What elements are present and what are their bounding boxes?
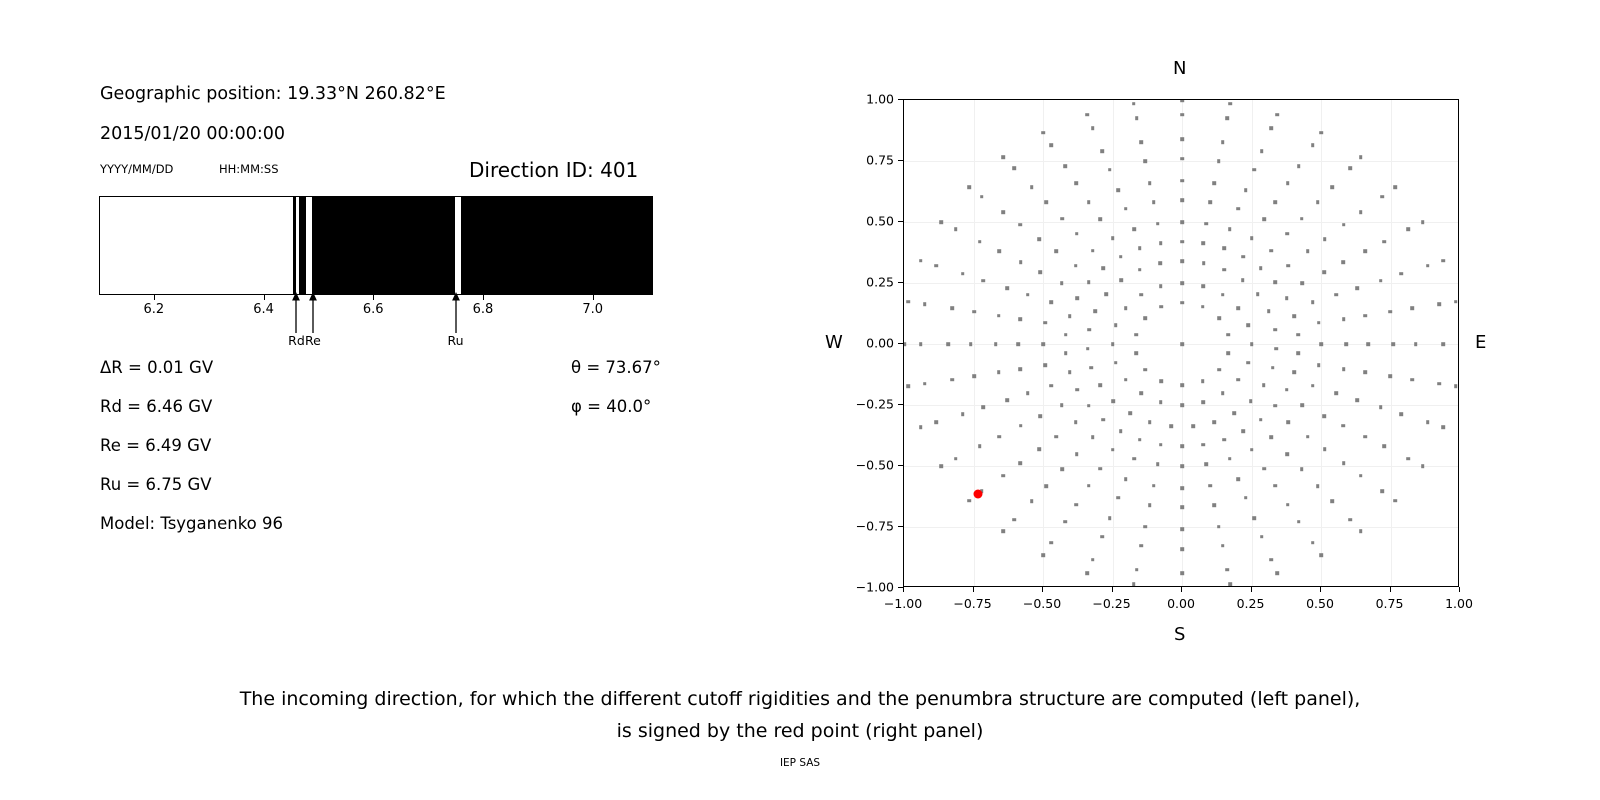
direction-dot xyxy=(1355,398,1359,402)
direction-dot xyxy=(1143,316,1147,320)
direction-dot xyxy=(919,342,923,346)
direction-dot xyxy=(1055,435,1059,439)
direction-dot xyxy=(1297,165,1301,169)
direction-dot xyxy=(1019,424,1023,428)
direction-dot xyxy=(1236,207,1240,211)
scatter-xtick-label: −0.75 xyxy=(953,596,991,611)
direction-dot xyxy=(1124,378,1128,382)
direction-dot xyxy=(1204,462,1208,466)
scatter-ytick-label: 0.25 xyxy=(841,275,894,290)
direction-dot xyxy=(978,445,982,449)
footer-credit: IEP SAS xyxy=(0,757,1600,769)
marker-arrow-ru xyxy=(450,291,461,333)
direction-dot xyxy=(1132,102,1136,106)
direction-dot xyxy=(1400,272,1404,276)
direction-dot xyxy=(1262,384,1266,388)
direction-dot xyxy=(1018,223,1022,227)
direction-dot xyxy=(1060,467,1064,471)
direction-dot xyxy=(1180,240,1184,244)
direction-dot xyxy=(1228,457,1232,461)
direction-dot xyxy=(1319,342,1323,346)
scatter-ytick-label: 1.00 xyxy=(841,92,894,107)
direction-dot xyxy=(1140,140,1144,144)
direction-dot xyxy=(1217,525,1221,529)
direction-dot xyxy=(1217,160,1221,164)
direction-dot xyxy=(1041,554,1045,558)
direction-dot xyxy=(1075,182,1079,186)
direction-dot xyxy=(1256,293,1260,297)
scatter-ytick xyxy=(898,221,903,222)
direction-dot xyxy=(1334,293,1338,297)
direction-dot xyxy=(1228,582,1232,586)
direction-dot xyxy=(969,342,973,346)
scatter-xtick-label: 1.00 xyxy=(1445,596,1473,611)
direction-dot xyxy=(1359,210,1363,214)
direction-dot xyxy=(1410,378,1414,382)
direction-dot xyxy=(1180,301,1184,305)
direction-dot xyxy=(1180,342,1184,346)
direction-dot xyxy=(1382,445,1386,449)
direction-dot xyxy=(1202,241,1206,245)
direction-dot xyxy=(1180,547,1184,551)
value-model: Model: Tsyganenko 96 xyxy=(100,516,283,533)
direction-dot xyxy=(1319,131,1323,135)
direction-dot xyxy=(1050,541,1054,545)
direction-dot xyxy=(1334,391,1338,395)
direction-dot xyxy=(1098,384,1102,388)
direction-dot xyxy=(1060,403,1064,407)
direction-dot xyxy=(1124,477,1128,481)
direction-dot xyxy=(1124,306,1128,310)
direction-dot xyxy=(1159,241,1163,245)
penumbra-tick xyxy=(593,295,594,300)
direction-dot xyxy=(1421,220,1425,224)
direction-dot xyxy=(1209,484,1213,488)
direction-dot xyxy=(1133,457,1137,461)
direction-dot xyxy=(1249,399,1253,403)
direction-dot xyxy=(1393,499,1397,503)
direction-dot xyxy=(1202,443,1206,447)
marker-label-ru: Ru xyxy=(448,333,464,348)
direction-dot xyxy=(1132,582,1136,586)
direction-dot xyxy=(1342,317,1346,321)
direction-dot xyxy=(1119,279,1123,283)
penumbra-tick xyxy=(483,295,484,300)
direction-dot xyxy=(1180,157,1184,161)
direction-dot xyxy=(1379,406,1383,410)
direction-dot xyxy=(1250,342,1254,346)
direction-dot xyxy=(1159,284,1163,288)
direction-dot xyxy=(1221,392,1225,396)
direction-dot xyxy=(1043,321,1047,325)
direction-dot xyxy=(972,374,976,378)
direction-dot xyxy=(1270,249,1274,253)
direction-dot xyxy=(1301,403,1305,407)
direction-dot xyxy=(1344,342,1348,346)
direction-dot xyxy=(982,406,986,410)
direction-dot xyxy=(1026,391,1030,395)
direction-dot xyxy=(997,435,1001,439)
direction-dot xyxy=(1076,388,1080,392)
direction-dot xyxy=(1297,520,1301,524)
direction-dot xyxy=(1201,380,1205,384)
direction-dot xyxy=(1213,503,1217,507)
direction-dot xyxy=(1441,259,1445,263)
marker-label-re: Re xyxy=(305,333,321,348)
direction-dot xyxy=(1348,518,1352,522)
direction-dot xyxy=(1252,168,1256,172)
direction-dot xyxy=(1087,404,1091,408)
direction-dot xyxy=(1111,448,1115,452)
direction-dot xyxy=(997,249,1001,253)
direction-dot xyxy=(1091,127,1095,131)
direction-dot xyxy=(1087,280,1091,284)
direction-dot xyxy=(1323,447,1327,451)
direction-dot xyxy=(1139,293,1143,297)
direction-dot xyxy=(1116,189,1120,193)
direction-dot xyxy=(1180,137,1184,141)
direction-dot xyxy=(1160,380,1164,384)
value-re: Re = 6.49 GV xyxy=(100,438,211,455)
direction-dot xyxy=(1044,484,1048,488)
direction-dot xyxy=(961,272,965,276)
direction-dot xyxy=(1068,370,1072,374)
direction-dot xyxy=(1342,461,1346,465)
direction-dot xyxy=(1102,266,1106,270)
direction-dot xyxy=(1133,228,1137,232)
direction-dot xyxy=(1191,425,1195,429)
direction-dot xyxy=(954,457,958,461)
direction-dot xyxy=(1400,412,1404,416)
direction-dot xyxy=(939,220,943,224)
direction-dot xyxy=(1180,464,1184,468)
direction-dot xyxy=(1213,420,1217,424)
direction-dot xyxy=(1217,368,1221,372)
direction-dot xyxy=(1005,286,1009,290)
direction-dot xyxy=(1359,529,1363,533)
direction-dot xyxy=(1104,293,1108,297)
direction-dot xyxy=(1275,571,1279,575)
penumbra-tick-label: 6.6 xyxy=(363,302,384,317)
direction-dot xyxy=(1064,352,1068,356)
direction-dot xyxy=(1260,535,1264,539)
direction-dot xyxy=(1002,529,1006,533)
direction-dot xyxy=(1293,314,1297,318)
scatter-xtick xyxy=(1251,587,1252,592)
marker-arrow-rd xyxy=(291,291,302,333)
direction-dot xyxy=(1246,323,1250,327)
direction-dot xyxy=(1287,264,1291,268)
scatter-ytick xyxy=(898,587,903,588)
direction-dot xyxy=(1091,249,1095,253)
direction-dot xyxy=(1180,506,1184,510)
direction-dot xyxy=(1273,484,1277,488)
direction-dot xyxy=(1102,418,1106,422)
compass-north-label: N xyxy=(1173,58,1186,79)
direction-dot xyxy=(1108,516,1112,520)
direction-dot xyxy=(1180,220,1184,224)
penumbra-tick-label: 6.4 xyxy=(253,302,274,317)
scatter-xtick xyxy=(1390,587,1391,592)
direction-dot xyxy=(1076,297,1080,301)
direction-dot xyxy=(1246,361,1250,365)
direction-dot xyxy=(1138,247,1142,251)
direction-dot xyxy=(1213,181,1217,185)
direction-dot xyxy=(961,412,965,416)
direction-dot xyxy=(1242,255,1246,259)
direction-dot xyxy=(1355,286,1359,290)
direction-dot xyxy=(1090,366,1094,370)
direction-dot xyxy=(1085,571,1089,575)
direction-dot xyxy=(1202,284,1206,288)
direction-scatter-plot xyxy=(903,99,1459,587)
direction-dot xyxy=(1100,150,1104,154)
direction-dot xyxy=(1300,217,1304,221)
direction-dot xyxy=(1226,116,1230,120)
direction-dot xyxy=(1222,438,1226,442)
direction-dot xyxy=(1342,367,1346,371)
direction-dot xyxy=(997,314,1001,318)
scatter-ytick xyxy=(898,465,903,466)
direction-dot xyxy=(1296,352,1300,356)
direction-dot xyxy=(1128,412,1132,416)
scatter-ytick xyxy=(898,343,903,344)
scatter-xtick xyxy=(1459,587,1460,592)
direction-dot xyxy=(1038,447,1042,451)
direction-dot xyxy=(1458,342,1459,346)
direction-dot xyxy=(1119,429,1123,433)
direction-dot xyxy=(1169,425,1173,429)
direction-dot xyxy=(1330,185,1334,189)
direction-dot xyxy=(1363,249,1367,253)
penumbra-forbidden-band xyxy=(461,197,653,294)
direction-dot xyxy=(1359,474,1363,478)
scatter-ytick-label: −1.00 xyxy=(841,580,894,595)
direction-dot xyxy=(1180,384,1184,388)
scatter-ytick xyxy=(898,160,903,161)
direction-dot xyxy=(1407,228,1411,232)
direction-dot xyxy=(1259,418,1263,422)
scatter-xtick-label: 0.25 xyxy=(1237,596,1265,611)
direction-dot xyxy=(1306,250,1310,254)
direction-dot xyxy=(1438,302,1442,306)
direction-dot xyxy=(1086,347,1090,351)
penumbra-bar xyxy=(99,196,653,295)
direction-dot xyxy=(1442,342,1446,346)
direction-dot xyxy=(1286,182,1290,186)
direction-dot xyxy=(1180,179,1184,183)
direction-dot xyxy=(982,279,986,283)
right-panel: N S W E −1.00−0.75−0.50−0.250.000.250.50… xyxy=(800,0,1600,800)
scatter-xtick-label: −0.50 xyxy=(1023,596,1061,611)
direction-dot xyxy=(1180,113,1184,117)
direction-dot xyxy=(1202,400,1206,404)
scatter-xtick-label: −1.00 xyxy=(884,596,922,611)
direction-dot xyxy=(1148,181,1152,185)
direction-dot xyxy=(1441,426,1445,430)
direction-dot xyxy=(1301,281,1305,285)
direction-dot xyxy=(1317,363,1321,367)
direction-dot xyxy=(1180,445,1184,449)
direction-dot xyxy=(980,195,984,199)
direction-dot xyxy=(1018,461,1022,465)
direction-dot xyxy=(1135,116,1139,120)
direction-dot xyxy=(997,371,1001,375)
geographic-position-text: Geographic position: 19.33°N 260.82°E xyxy=(100,86,446,104)
penumbra-chart xyxy=(99,196,653,295)
direction-dot xyxy=(1342,260,1346,264)
direction-dot xyxy=(1311,144,1315,148)
direction-dot xyxy=(1270,436,1274,440)
direction-dot xyxy=(1087,484,1091,488)
direction-dot xyxy=(1226,333,1230,337)
scatter-ytick xyxy=(898,99,903,100)
direction-dot xyxy=(1180,486,1184,490)
direction-dot xyxy=(1119,255,1123,259)
direction-dot xyxy=(1041,342,1045,346)
direction-dot xyxy=(1228,102,1232,106)
scatter-ytick-label: 0.00 xyxy=(841,336,894,351)
scatter-xtick-label: 0.50 xyxy=(1306,596,1334,611)
direction-dot xyxy=(1087,328,1091,332)
direction-dot xyxy=(994,342,998,346)
selected-direction-point[interactable] xyxy=(973,490,982,499)
scatter-ytick xyxy=(898,526,903,527)
direction-dot xyxy=(1286,503,1290,507)
gridline-horizontal xyxy=(904,161,1458,162)
direction-dot xyxy=(1317,321,1321,325)
direction-dot xyxy=(1038,270,1042,274)
direction-dot xyxy=(1421,464,1425,468)
direction-dot xyxy=(1217,316,1221,320)
scatter-xtick-label: −0.25 xyxy=(1092,596,1130,611)
marker-label-rd: Rd xyxy=(288,333,305,348)
direction-dot xyxy=(1226,351,1230,355)
direction-dot xyxy=(1241,279,1245,283)
direction-dot xyxy=(1300,467,1304,471)
marker-arrow-re xyxy=(307,291,318,333)
direction-dot xyxy=(1180,259,1184,263)
direction-dot xyxy=(1001,210,1005,214)
direction-dot xyxy=(1270,127,1274,131)
direction-dot xyxy=(1388,310,1392,314)
direction-dot xyxy=(906,300,910,304)
value-rd: Rd = 6.46 GV xyxy=(100,399,212,416)
direction-dot xyxy=(1260,150,1264,154)
direction-dot xyxy=(1393,185,1397,189)
direction-dot xyxy=(1273,404,1277,408)
direction-dot xyxy=(1100,535,1104,539)
penumbra-forbidden-band xyxy=(312,197,455,294)
direction-dot xyxy=(1311,300,1315,304)
direction-dot xyxy=(1242,429,1246,433)
direction-dot xyxy=(1273,201,1277,205)
date-format-hint: YYYY/MM/DD xyxy=(100,164,173,176)
direction-dot xyxy=(1438,382,1442,386)
direction-dot xyxy=(1426,421,1430,425)
direction-dot xyxy=(1114,323,1118,327)
direction-dot xyxy=(1135,568,1139,572)
direction-dot xyxy=(1236,477,1240,481)
direction-dot xyxy=(1098,467,1102,471)
scatter-ytick xyxy=(898,404,903,405)
direction-dot xyxy=(1055,250,1059,254)
direction-dot xyxy=(1124,207,1128,211)
direction-dot xyxy=(1050,144,1054,148)
direction-dot xyxy=(1222,247,1226,251)
direction-dot xyxy=(1111,342,1115,346)
direction-dot xyxy=(1140,544,1144,548)
direction-dot xyxy=(935,421,939,425)
direction-dot xyxy=(1144,525,1148,529)
direction-dot xyxy=(1016,342,1020,346)
direction-dot xyxy=(1063,165,1067,169)
direction-dot xyxy=(906,385,910,389)
direction-dot xyxy=(1286,232,1290,236)
direction-dot xyxy=(1201,305,1205,309)
direction-dot xyxy=(1091,558,1095,562)
direction-dot xyxy=(1019,260,1023,264)
direction-dot xyxy=(1180,281,1184,285)
scatter-xtick xyxy=(1181,587,1182,592)
direction-dot xyxy=(1019,317,1023,321)
direction-dot xyxy=(1180,572,1184,576)
direction-dot xyxy=(1252,516,1256,520)
direction-dot xyxy=(1098,218,1102,222)
direction-dot xyxy=(1221,293,1225,297)
direction-dot xyxy=(1138,438,1142,442)
direction-dot xyxy=(1005,398,1009,402)
direction-dot xyxy=(1143,368,1147,372)
compass-east-label: E xyxy=(1475,332,1486,353)
direction-dot xyxy=(1001,474,1005,478)
direction-dot xyxy=(1108,168,1112,172)
direction-dot xyxy=(1262,467,1266,471)
direction-dot xyxy=(1286,452,1290,456)
scatter-xtick-label: 0.75 xyxy=(1376,596,1404,611)
direction-dot xyxy=(1342,424,1346,428)
direction-dot xyxy=(1262,218,1266,222)
direction-dot xyxy=(1275,113,1279,117)
direction-dot xyxy=(1152,484,1156,488)
direction-dot xyxy=(1221,544,1225,548)
direction-dot xyxy=(1293,370,1297,374)
direction-dot xyxy=(1322,414,1326,418)
penumbra-tick-label: 7.0 xyxy=(582,302,603,317)
penumbra-tick-label: 6.2 xyxy=(144,302,165,317)
direction-dot xyxy=(1134,351,1138,355)
direction-dot xyxy=(978,240,982,244)
direction-dot xyxy=(1038,414,1042,418)
direction-dot xyxy=(1330,499,1334,503)
direction-dot xyxy=(1342,223,1346,227)
direction-dot xyxy=(1050,300,1054,304)
left-panel: Geographic position: 19.33°N 260.82°E 20… xyxy=(0,0,800,800)
scatter-ytick-label: −0.50 xyxy=(841,458,894,473)
penumbra-tick xyxy=(264,295,265,300)
direction-dot xyxy=(1074,264,1078,268)
scatter-ytick-label: 0.50 xyxy=(841,214,894,229)
direction-dot xyxy=(1316,200,1320,204)
datetime-text: 2015/01/20 00:00:00 xyxy=(100,126,285,144)
direction-dot xyxy=(1075,232,1079,236)
direction-dot xyxy=(1116,496,1120,500)
penumbra-x-axis: 6.26.46.66.87.0RdReRu xyxy=(99,295,653,355)
direction-dot xyxy=(1180,198,1184,202)
direction-dot xyxy=(1043,363,1047,367)
direction-dot xyxy=(1044,200,1048,204)
time-format-hint: HH:MM:SS xyxy=(219,164,279,176)
